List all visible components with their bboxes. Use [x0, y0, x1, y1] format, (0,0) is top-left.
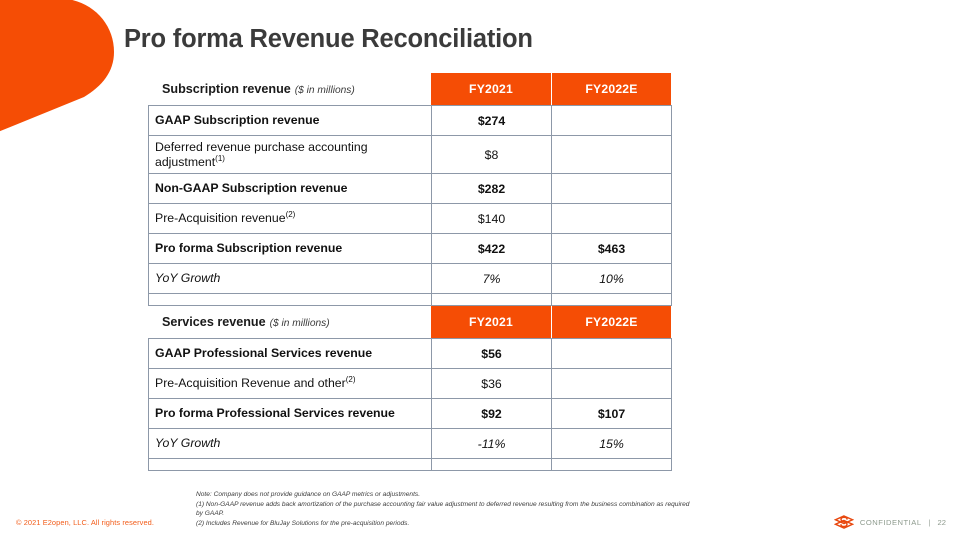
footer-right-group: CONFIDENTIAL | 22 [834, 515, 946, 529]
table-row-spacer [149, 459, 672, 471]
row-label: Pre-Acquisition Revenue and other(2) [149, 369, 432, 399]
row-value-fy2021: -11% [432, 429, 552, 459]
row-label-footnote-ref: (1) [215, 153, 225, 162]
row-label: Pre-Acquisition revenue(2) [149, 204, 432, 234]
row-value-fy2021: $56 [432, 339, 552, 369]
services-grid: GAAP Professional Services revenue $56 P… [148, 338, 672, 471]
table-row: YoY Growth 7% 10% [149, 264, 672, 294]
table-row: Deferred revenue purchase accounting adj… [149, 136, 672, 174]
table-caption-units: ($ in millions) [295, 85, 355, 96]
row-value-fy2021: $8 [432, 136, 552, 174]
brand-blob-decoration [0, 0, 114, 132]
table-caption-row: Subscription revenue($ in millions) FY20… [148, 72, 671, 105]
table-caption-units: ($ in millions) [270, 318, 330, 329]
row-value-fy2021: $36 [432, 369, 552, 399]
row-value-fy2022e [552, 339, 672, 369]
row-value-fy2022e: 15% [552, 429, 672, 459]
row-value-fy2021: 7% [432, 264, 552, 294]
row-value-fy2021: $92 [432, 399, 552, 429]
table-row: Pro forma Professional Services revenue … [149, 399, 672, 429]
row-label: GAAP Subscription revenue [149, 106, 432, 136]
column-header-fy2022e: FY2022E [551, 306, 671, 338]
row-value-fy2022e [552, 106, 672, 136]
row-value-fy2022e: 10% [552, 264, 672, 294]
services-revenue-table: Services revenue($ in millions) FY2021 F… [148, 305, 671, 471]
footnote-note: Note: Company does not provide guidance … [196, 490, 696, 500]
row-label [149, 459, 432, 471]
row-value-fy2022e: $107 [552, 399, 672, 429]
row-value-fy2021 [432, 459, 552, 471]
footer-confidential-label: CONFIDENTIAL [860, 518, 922, 527]
page-title: Pro forma Revenue Reconciliation [124, 25, 533, 54]
row-value-fy2022e [552, 136, 672, 174]
row-label-text: Deferred revenue purchase accounting adj… [155, 140, 368, 169]
table-row-spacer [149, 294, 672, 306]
row-label-text: Pre-Acquisition Revenue and other [155, 376, 346, 390]
footnotes-block: Note: Company does not provide guidance … [196, 490, 696, 528]
row-label [149, 294, 432, 306]
column-header-fy2021: FY2021 [431, 306, 551, 338]
table-row: Pro forma Subscription revenue $422 $463 [149, 234, 672, 264]
table-row: GAAP Subscription revenue $274 [149, 106, 672, 136]
row-value-fy2021: $274 [432, 106, 552, 136]
table-row: Non-GAAP Subscription revenue $282 [149, 174, 672, 204]
row-label-text: Pre-Acquisition revenue [155, 211, 286, 225]
row-value-fy2022e: $463 [552, 234, 672, 264]
table-caption: Services revenue($ in millions) [148, 315, 330, 329]
slide-canvas: Pro forma Revenue Reconciliation Subscri… [0, 0, 960, 540]
row-label: GAAP Professional Services revenue [149, 339, 432, 369]
table-caption-text: Services revenue [162, 315, 266, 329]
footnote-2: (2) Includes Revenue for BluJay Solution… [196, 519, 696, 529]
row-value-fy2021: $282 [432, 174, 552, 204]
table-row: GAAP Professional Services revenue $56 [149, 339, 672, 369]
row-label: Pro forma Professional Services revenue [149, 399, 432, 429]
row-label: Pro forma Subscription revenue [149, 234, 432, 264]
column-header-group: FY2021 FY2022E [431, 73, 671, 105]
table-caption-text: Subscription revenue [162, 82, 291, 96]
footer-copyright: © 2021 E2open, LLC. All rights reserved. [16, 518, 154, 527]
table-caption: Subscription revenue($ in millions) [148, 82, 355, 96]
e2open-logo-icon [834, 515, 854, 529]
footer-page-number: 22 [938, 518, 946, 527]
row-label-footnote-ref: (2) [346, 375, 356, 384]
row-label-footnote-ref: (2) [286, 210, 296, 219]
table-row: Pre-Acquisition Revenue and other(2) $36 [149, 369, 672, 399]
row-value-fy2022e [552, 294, 672, 306]
footer-separator: | [929, 518, 931, 527]
row-value-fy2022e [552, 204, 672, 234]
row-value-fy2022e [552, 174, 672, 204]
column-header-fy2022e: FY2022E [551, 73, 671, 105]
subscription-revenue-table: Subscription revenue($ in millions) FY20… [148, 72, 671, 306]
row-value-fy2022e [552, 459, 672, 471]
column-header-fy2021: FY2021 [431, 73, 551, 105]
row-label: Deferred revenue purchase accounting adj… [149, 136, 432, 174]
column-header-group: FY2021 FY2022E [431, 306, 671, 338]
row-label: Non-GAAP Subscription revenue [149, 174, 432, 204]
row-label: YoY Growth [149, 264, 432, 294]
subscription-grid: GAAP Subscription revenue $274 Deferred … [148, 105, 672, 306]
table-row: YoY Growth -11% 15% [149, 429, 672, 459]
table-caption-row: Services revenue($ in millions) FY2021 F… [148, 305, 671, 338]
row-label: YoY Growth [149, 429, 432, 459]
row-value-fy2021: $140 [432, 204, 552, 234]
row-value-fy2022e [552, 369, 672, 399]
table-row: Pre-Acquisition revenue(2) $140 [149, 204, 672, 234]
row-value-fy2021: $422 [432, 234, 552, 264]
row-value-fy2021 [432, 294, 552, 306]
footnote-1: (1) Non-GAAP revenue adds back amortizat… [196, 500, 696, 519]
